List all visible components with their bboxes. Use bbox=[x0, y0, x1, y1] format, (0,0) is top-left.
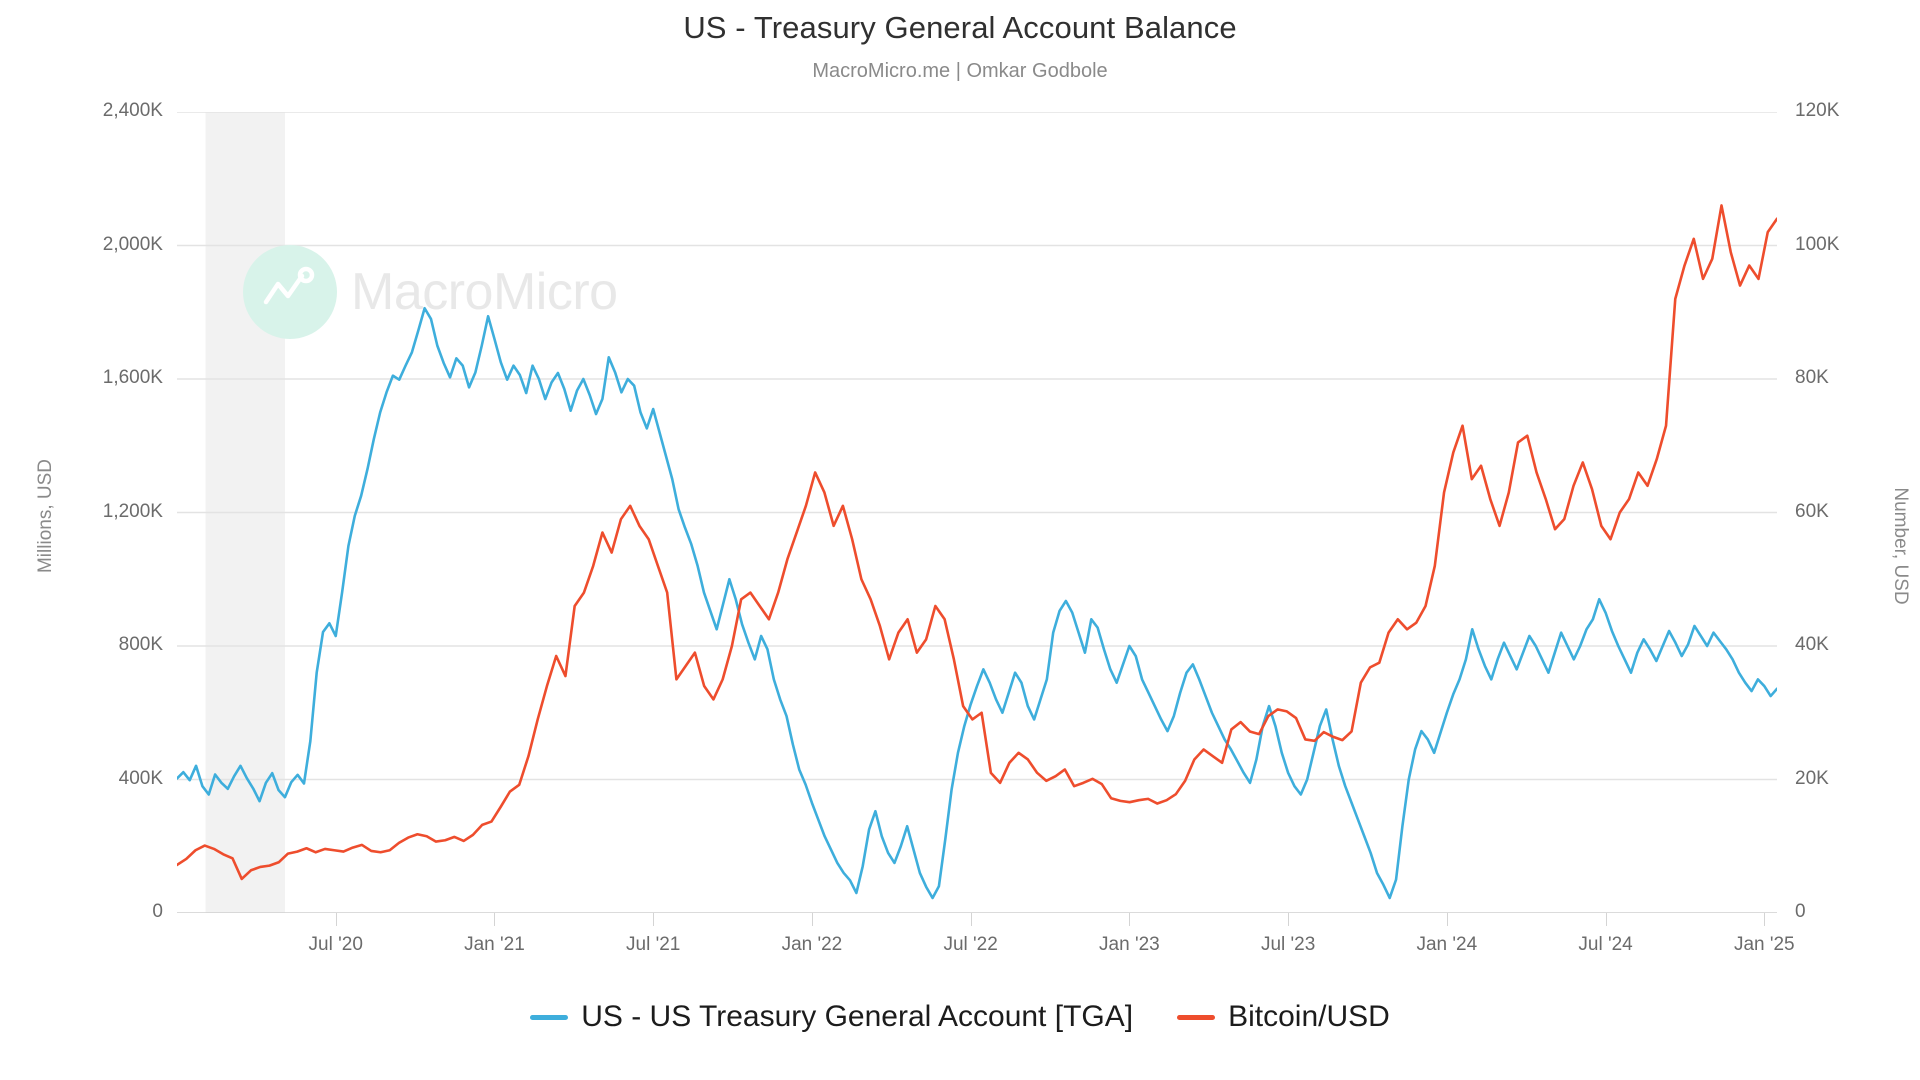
right-axis-tick-label: 80K bbox=[1795, 367, 1829, 389]
x-axis-tick-mark bbox=[1447, 913, 1448, 926]
x-axis-tick-label: Jul '21 bbox=[626, 934, 680, 956]
left-axis-tick-label: 2,400K bbox=[103, 100, 163, 122]
left-axis-tick-label: 1,200K bbox=[103, 501, 163, 523]
x-axis-tick-label: Jul '23 bbox=[1261, 934, 1315, 956]
x-axis-tick-label: Jan '25 bbox=[1734, 934, 1795, 956]
x-axis-tick-label: Jan '23 bbox=[1099, 934, 1160, 956]
x-axis-tick-label: Jul '22 bbox=[943, 934, 997, 956]
gridlines bbox=[177, 112, 1777, 913]
chart-canvas bbox=[177, 112, 1777, 913]
x-axis-tick-label: Jan '22 bbox=[782, 934, 843, 956]
x-axis-tick-mark bbox=[1129, 913, 1130, 926]
legend-item-bitcoin[interactable]: Bitcoin/USD bbox=[1177, 1000, 1390, 1034]
x-axis-tick-mark bbox=[494, 913, 495, 926]
left-axis-tick-label: 800K bbox=[119, 634, 163, 656]
right-axis-tick-label: 120K bbox=[1795, 100, 1839, 122]
x-axis-tick-mark bbox=[1288, 913, 1289, 926]
x-axis-tick-label: Jan '21 bbox=[464, 934, 525, 956]
x-axis-tick-label: Jul '24 bbox=[1578, 934, 1632, 956]
right-axis-tick-label: 0 bbox=[1795, 901, 1806, 923]
left-axis-tick-label: 2,000K bbox=[103, 234, 163, 256]
series-line-tga bbox=[177, 308, 1777, 898]
left-axis-tick-label: 0 bbox=[152, 901, 163, 923]
left-axis-tick-label: 1,600K bbox=[103, 367, 163, 389]
x-axis-tick-mark bbox=[336, 913, 337, 926]
plot-area bbox=[177, 112, 1777, 913]
right-axis-tick-label: 100K bbox=[1795, 234, 1839, 256]
legend-label-tga: US - US Treasury General Account [TGA] bbox=[581, 1000, 1133, 1034]
chart-page: US - Treasury General Account Balance Ma… bbox=[0, 0, 1920, 1080]
chart-legend: US - US Treasury General Account [TGA] B… bbox=[0, 1000, 1920, 1034]
legend-item-tga[interactable]: US - US Treasury General Account [TGA] bbox=[530, 1000, 1133, 1034]
x-axis-tick-mark bbox=[812, 913, 813, 926]
right-axis-title-text: Number, USD bbox=[1889, 456, 1911, 636]
left-axis-title-text: Millions, USD bbox=[35, 426, 57, 606]
x-axis-tick-mark bbox=[653, 913, 654, 926]
right-axis-tick-label: 20K bbox=[1795, 768, 1829, 790]
right-axis-tick-label: 60K bbox=[1795, 501, 1829, 523]
x-axis-tick-mark bbox=[1764, 913, 1765, 926]
series-lines bbox=[177, 205, 1777, 898]
legend-swatch-tga bbox=[530, 1015, 568, 1020]
x-axis-tick-label: Jan '24 bbox=[1416, 934, 1477, 956]
chart-subtitle: MacroMicro.me | Omkar Godbole bbox=[0, 60, 1920, 83]
legend-label-bitcoin: Bitcoin/USD bbox=[1228, 1000, 1390, 1034]
legend-swatch-bitcoin bbox=[1177, 1015, 1215, 1020]
right-axis-tick-label: 40K bbox=[1795, 634, 1829, 656]
chart-title: US - Treasury General Account Balance bbox=[0, 10, 1920, 46]
x-axis-tick-mark bbox=[1606, 913, 1607, 926]
x-axis-tick-label: Jul '20 bbox=[309, 934, 363, 956]
x-axis-tick-mark bbox=[971, 913, 972, 926]
left-axis-tick-label: 400K bbox=[119, 768, 163, 790]
right-axis-title: Number, USD bbox=[1872, 0, 1912, 1080]
left-axis-title: Millions, USD bbox=[18, 0, 58, 1080]
series-line-bitcoin bbox=[177, 205, 1777, 879]
